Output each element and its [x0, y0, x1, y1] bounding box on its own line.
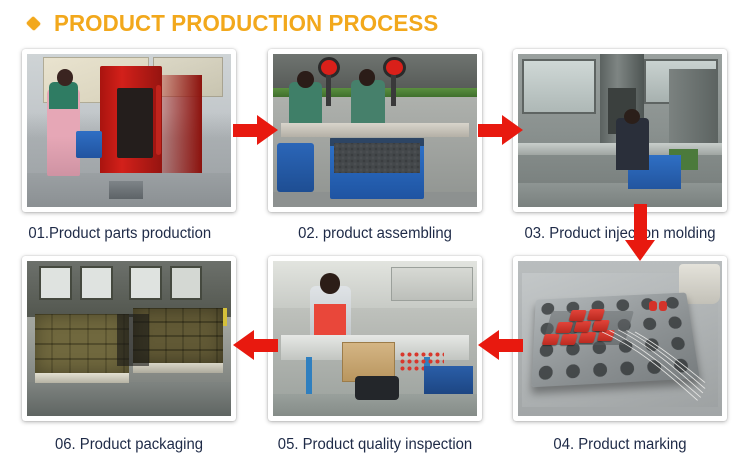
- photo-product-injection-molding: [518, 54, 722, 207]
- caption-step-04: 04. Product marking: [517, 436, 722, 454]
- photo-frame-05[interactable]: [268, 256, 482, 421]
- arrow-step4-to-step5-icon: [476, 330, 523, 361]
- arrow-step5-to-step6-icon: [231, 330, 278, 361]
- photo-frame-04[interactable]: [513, 256, 727, 421]
- photo-product-assembling: [273, 54, 477, 207]
- arrow-step1-to-step2-icon: [233, 115, 280, 146]
- arrow-step2-to-step3-icon: [478, 115, 525, 146]
- caption-step-03: 03. Product injection molding: [510, 225, 731, 243]
- caption-step-06: 06. Product packaging: [26, 436, 231, 454]
- mold-wires-icon: [600, 329, 706, 403]
- arrow-step3-to-step4-icon: [625, 204, 656, 266]
- caption-step-02: 02. product assembling: [272, 225, 477, 243]
- photo-product-marking: [518, 261, 722, 416]
- photo-product-parts-production: [27, 54, 231, 207]
- process-grid: 01.Product parts production: [0, 0, 750, 470]
- photo-frame-01[interactable]: [22, 49, 236, 212]
- photo-frame-03[interactable]: [513, 49, 727, 212]
- caption-step-01: 01.Product parts production: [28, 225, 235, 243]
- photo-frame-02[interactable]: [268, 49, 482, 212]
- photo-frame-06[interactable]: [22, 256, 236, 421]
- photo-product-quality-inspection: [273, 261, 477, 416]
- photo-product-packaging: [27, 261, 231, 416]
- caption-step-05: 05. Product quality inspection: [267, 436, 484, 454]
